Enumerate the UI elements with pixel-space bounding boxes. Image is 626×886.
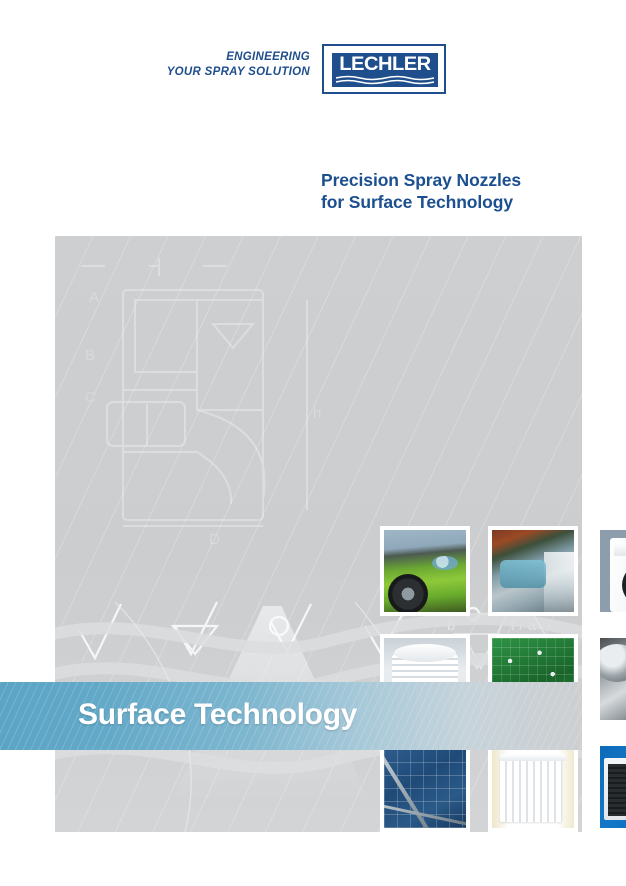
page-title: Precision Spray Nozzles for Surface Tech… (321, 170, 521, 213)
logo-wordmark: LECHLER (332, 54, 438, 76)
banner-title: Surface Technology (78, 698, 357, 732)
logo-badge: LECHLER (332, 53, 438, 87)
oven-photo (600, 746, 626, 828)
tile-stainless-pots[interactable] (596, 634, 626, 724)
brand-tagline: ENGINEERING YOUR SPRAY SOLUTION (110, 50, 310, 79)
automotive-body-photo (384, 530, 466, 612)
tile-oven[interactable] (596, 742, 626, 832)
logo-wave-icon (336, 75, 434, 85)
tagline-line-1: ENGINEERING (110, 50, 310, 65)
car-wash-photo (492, 530, 574, 612)
page-title-line-2: for Surface Technology (321, 192, 521, 214)
page-header: ENGINEERING YOUR SPRAY SOLUTION LECHLER (0, 0, 626, 140)
washing-machine-photo (600, 530, 626, 612)
radiator-photo (492, 746, 574, 828)
tagline-line-2: YOUR SPRAY SOLUTION (110, 65, 310, 80)
tile-automotive-body[interactable] (380, 526, 470, 616)
tile-radiator[interactable] (488, 742, 578, 832)
tile-washing-machine[interactable] (596, 526, 626, 616)
tile-car-wash[interactable] (488, 526, 578, 616)
solar-panel-photo (384, 746, 466, 828)
stainless-pots-photo (600, 638, 626, 720)
page-title-line-1: Precision Spray Nozzles (321, 170, 521, 192)
tile-solar-panel[interactable] (380, 742, 470, 832)
lechler-logo: LECHLER (322, 44, 446, 94)
